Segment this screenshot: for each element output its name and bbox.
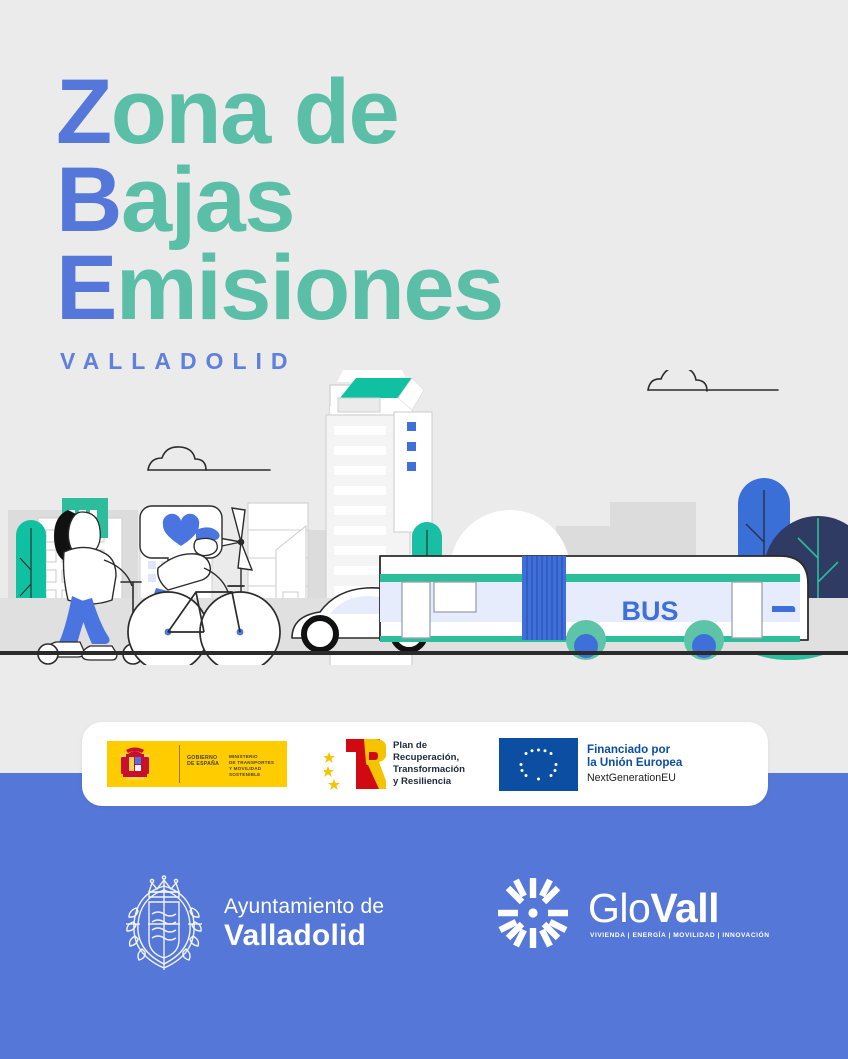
headline-line-3-rest: misiones — [116, 237, 503, 339]
headline-line-1-rest: ona de — [111, 61, 398, 163]
prtr-line-2: Recuperación, — [393, 752, 465, 764]
cloud-icon-right — [648, 370, 778, 391]
prtr-line-4: y Resiliencia — [393, 776, 465, 788]
spain-flag-block: GOBIERNO DE ESPAÑA MINISTERIO DE TRANSPO… — [107, 741, 287, 787]
glovall-logo: GloVall VIVIENDA | ENERGÍA | MOVILIDAD |… — [494, 874, 770, 952]
city-illustration: BUS — [0, 370, 848, 665]
prtr-line-1: Plan de — [393, 740, 465, 752]
headline-initial-z: Z — [56, 61, 111, 163]
logo-divider — [179, 745, 180, 783]
eu-line-3: NextGenerationEU — [587, 771, 682, 785]
bus-label: BUS — [621, 596, 678, 626]
glovall-tagline: VIVIENDA | ENERGÍA | MOVILIDAD | INNOVAC… — [590, 932, 770, 939]
headline-line-1: Zona de — [56, 68, 676, 156]
page-title: Zona de Bajas Emisiones — [56, 68, 676, 332]
funding-logos-card: GOBIERNO DE ESPAÑA MINISTERIO DE TRANSPO… — [82, 722, 768, 806]
ministerio-line-3: Y MOVILIDAD SOSTENIBLE — [229, 766, 287, 778]
ground-line — [0, 651, 848, 655]
prtr-line-3: Transformación — [393, 764, 465, 776]
headline-initial-b: B — [56, 149, 121, 251]
building-side-narrow — [394, 412, 432, 532]
headline-line-2: Bajas — [56, 156, 676, 244]
eu-line-2: la Unión Europea — [587, 756, 682, 769]
poster-canvas: Zona de Bajas Emisiones VALLADOLID — [0, 0, 848, 1059]
bus-door — [522, 556, 566, 640]
gobierno-line-2: DE ESPAÑA — [187, 761, 219, 767]
ayuntamiento-valladolid-logo: Ayuntamiento de Valladolid — [118, 874, 384, 972]
prtr-monogram-icon — [324, 735, 386, 793]
headline-line-2-rest: ajas — [121, 149, 294, 251]
glovall-name-part-2: Vall — [650, 885, 719, 931]
bottom-logos-row: Ayuntamiento de Valladolid — [0, 862, 848, 990]
glovall-starburst-icon — [494, 874, 572, 952]
eu-flag-icon — [499, 738, 578, 791]
eu-line-1: Financiado por — [587, 743, 682, 756]
eu-text: Financiado por la Unión Europea NextGene… — [587, 743, 682, 786]
glovall-text: GloVall VIVIENDA | ENERGÍA | MOVILIDAD |… — [588, 887, 770, 939]
ayuntamiento-text: Ayuntamiento de Valladolid — [224, 895, 384, 952]
cloud-icon-left — [148, 447, 270, 470]
prtr-text: Plan de Recuperación, Transformación y R… — [393, 740, 465, 787]
ayuntamiento-line-1: Ayuntamiento de — [224, 895, 384, 919]
eu-funding-logo: Financiado por la Unión Europea NextGene… — [499, 738, 682, 791]
headline-initial-e: E — [56, 237, 116, 339]
prtr-logo: Plan de Recuperación, Transformación y R… — [324, 735, 465, 793]
spain-coat-of-arms-icon — [120, 745, 150, 783]
gobierno-espana-logo: GOBIERNO DE ESPAÑA MINISTERIO DE TRANSPO… — [107, 741, 287, 787]
glovall-wordmark: GloVall — [588, 887, 770, 929]
ministerio-text: MINISTERIO DE TRANSPORTES Y MOVILIDAD SO… — [229, 754, 287, 778]
valladolid-coat-of-arms-icon — [118, 874, 210, 972]
headline-line-3: Emisiones — [56, 244, 676, 332]
gobierno-text: GOBIERNO DE ESPAÑA — [187, 755, 219, 768]
ayuntamiento-line-2: Valladolid — [224, 919, 384, 952]
glovall-name-part-1: Glo — [588, 885, 650, 931]
